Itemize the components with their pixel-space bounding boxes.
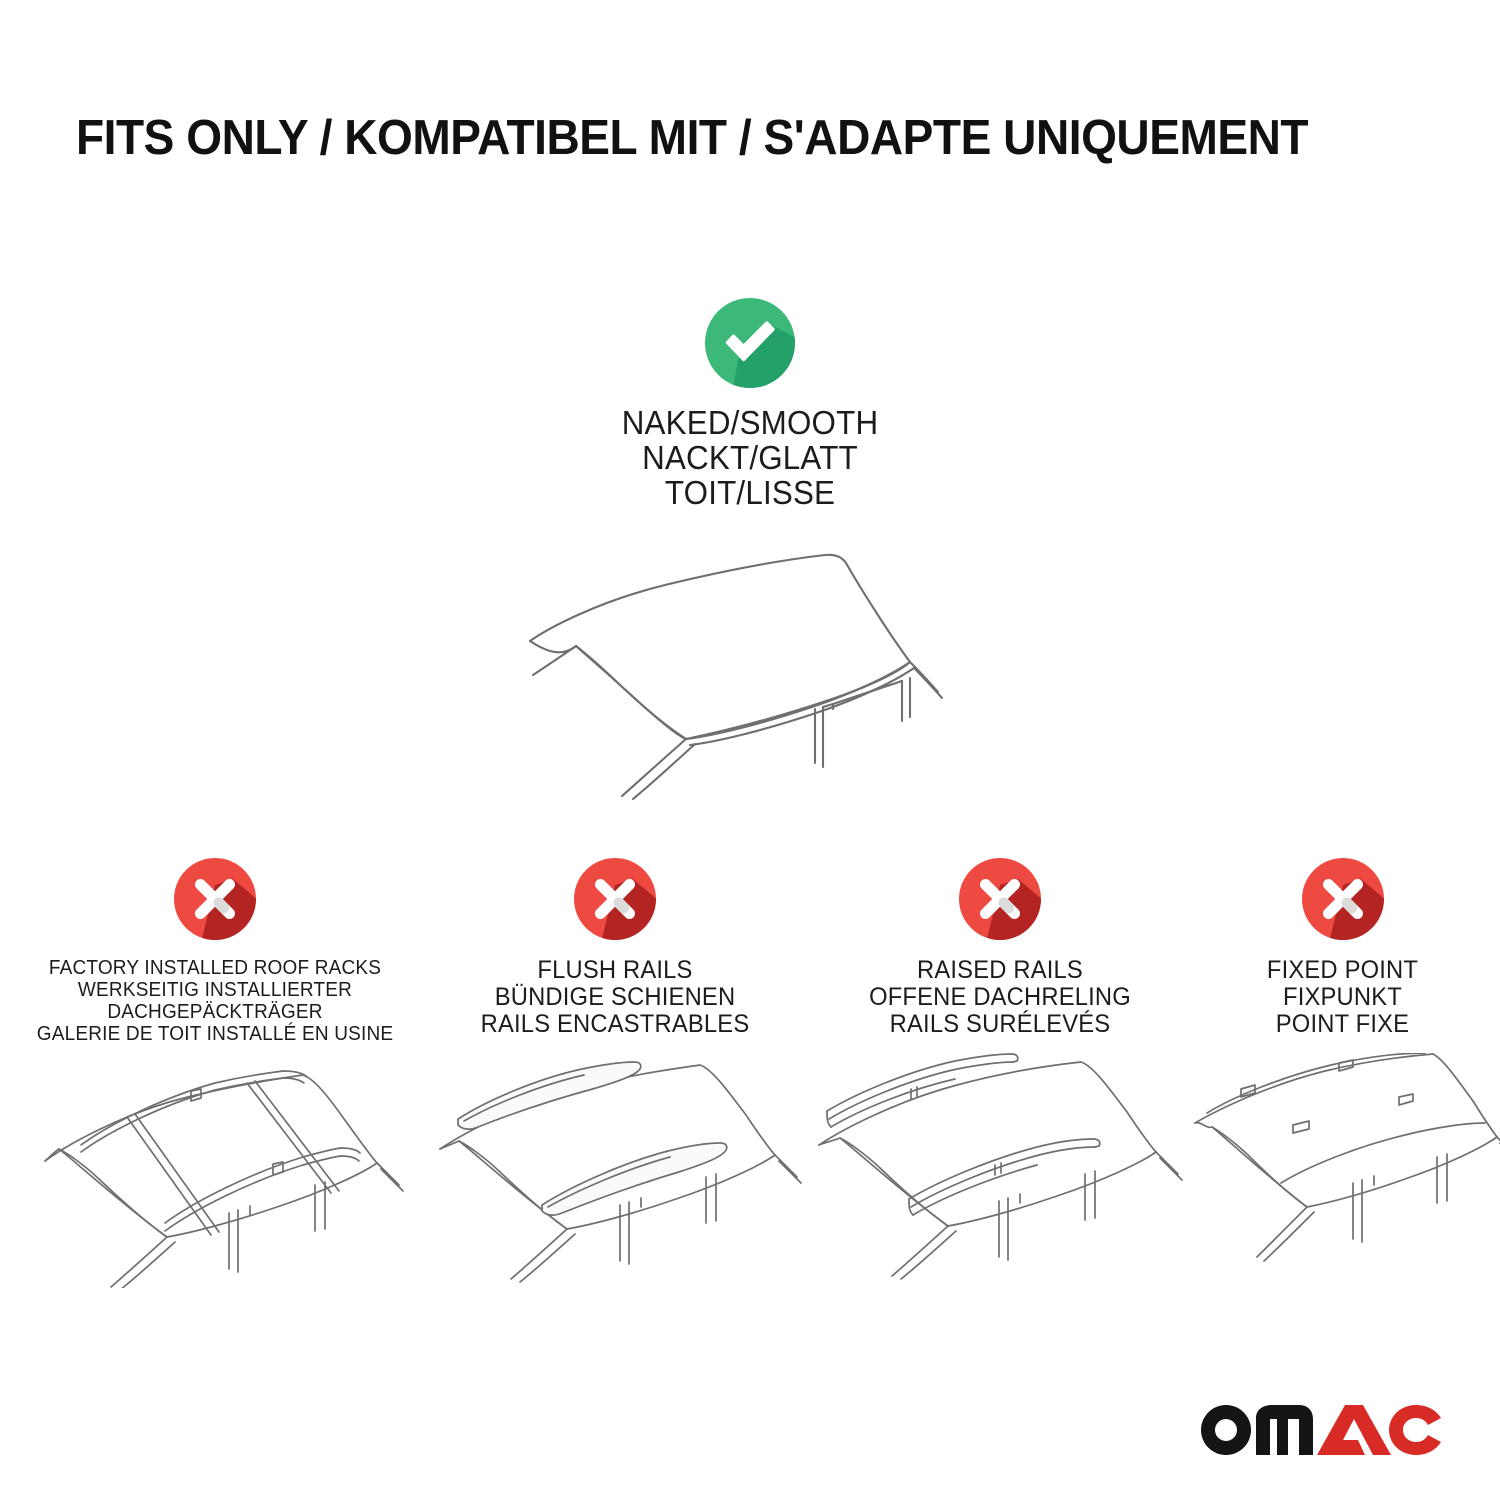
incompatible-label-en: FACTORY INSTALLED ROOF RACKS: [25, 957, 405, 979]
car-roof-raised-rails-illustration: [805, 1053, 1195, 1288]
fitment-infographic: FITS ONLY / KOMPATIBEL MIT / S'ADAPTE UN…: [0, 0, 1500, 1500]
incompatible-item-factory-roof-racks: FACTORY INSTALLED ROOF RACKS WERKSEITIG …: [15, 855, 415, 1045]
incompatible-label-en: RAISED RAILS: [815, 957, 1186, 984]
compatible-label-de: NACKT/GLATT: [38, 440, 1463, 475]
cross-circle-icon: [956, 855, 1044, 943]
incompatible-item-flush-rails: FLUSH RAILS BÜNDIGE SCHIENEN RAILS ENCAS…: [420, 855, 810, 1038]
incompatible-label-fr: RAILS SURÉLEVÉS: [815, 1011, 1186, 1038]
incompatible-labels: FIXED POINT FIXPUNKT POINT FIXE: [1193, 957, 1492, 1038]
incompatible-section: FACTORY INSTALLED ROOF RACKS WERKSEITIG …: [0, 855, 1500, 1315]
page-title: FITS ONLY / KOMPATIBEL MIT / S'ADAPTE UN…: [76, 108, 1354, 168]
car-roof-naked-smooth-illustration: [490, 531, 1050, 806]
compatible-labels: NAKED/SMOOTH NACKT/GLATT TOIT/LISSE: [38, 405, 1463, 510]
incompatible-label-en: FIXED POINT: [1193, 957, 1492, 984]
cross-circle-icon: [571, 855, 659, 943]
incompatible-label-fr: POINT FIXE: [1193, 1011, 1492, 1038]
incompatible-labels: FLUSH RAILS BÜNDIGE SCHIENEN RAILS ENCAS…: [430, 957, 801, 1038]
cross-circle-icon: [171, 855, 259, 943]
incompatible-label-de-1: WERKSEITIG INSTALLIERTER: [25, 979, 405, 1001]
incompatible-label-en: FLUSH RAILS: [430, 957, 801, 984]
compatible-label-fr: TOIT/LISSE: [38, 475, 1463, 510]
incompatible-labels: RAISED RAILS OFFENE DACHRELING RAILS SUR…: [815, 957, 1186, 1038]
check-circle-icon: [702, 295, 798, 391]
incompatible-label-de: FIXPUNKT: [1193, 984, 1492, 1011]
incompatible-item-fixed-point: FIXED POINT FIXPUNKT POINT FIXE: [1185, 855, 1500, 1038]
incompatible-label-fr: GALERIE DE TOIT INSTALLÉ EN USINE: [25, 1023, 405, 1045]
car-roof-flush-rails-illustration: [420, 1053, 810, 1288]
incompatible-labels: FACTORY INSTALLED ROOF RACKS WERKSEITIG …: [25, 957, 405, 1045]
omac-logo: [1195, 1396, 1445, 1458]
incompatible-label-fr: RAILS ENCASTRABLES: [430, 1011, 801, 1038]
car-roof-factory-roof-racks-illustration: [15, 1053, 415, 1288]
incompatible-label-de-2: DACHGEPÄCKTRÄGER: [25, 1001, 405, 1023]
incompatible-item-raised-rails: RAISED RAILS OFFENE DACHRELING RAILS SUR…: [805, 855, 1195, 1038]
cross-circle-icon: [1299, 855, 1387, 943]
car-roof-fixed-point-illustration: [1185, 1053, 1500, 1288]
incompatible-label-de: BÜNDIGE SCHIENEN: [430, 984, 801, 1011]
compatible-section: NAKED/SMOOTH NACKT/GLATT TOIT/LISSE: [0, 295, 1500, 510]
incompatible-label-de: OFFENE DACHRELING: [815, 984, 1186, 1011]
compatible-label-en: NAKED/SMOOTH: [38, 405, 1463, 440]
